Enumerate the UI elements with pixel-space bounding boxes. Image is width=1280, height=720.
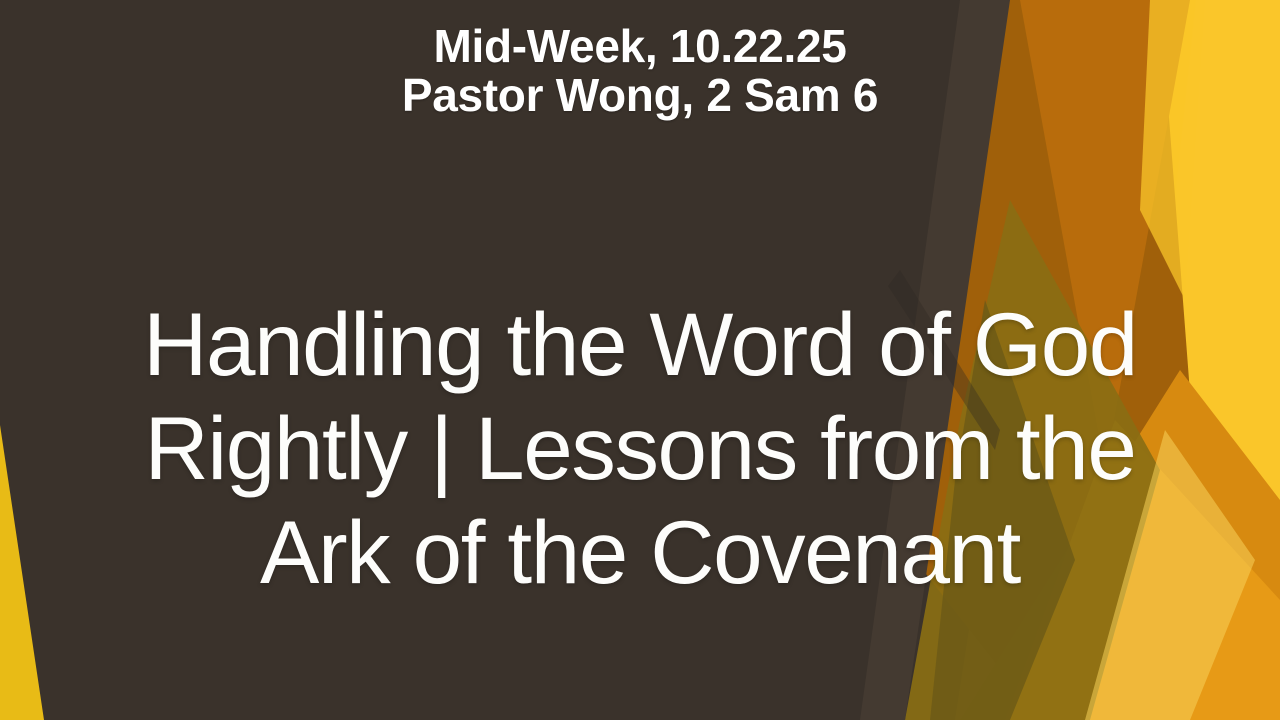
subtitle-block: Mid-Week, 10.22.25 Pastor Wong, 2 Sam 6 xyxy=(402,22,878,120)
slide-content: Mid-Week, 10.22.25 Pastor Wong, 2 Sam 6 … xyxy=(0,0,1280,720)
subtitle-line-speaker-passage: Pastor Wong, 2 Sam 6 xyxy=(402,71,878,120)
title-line-2: Rightly | Lessons from the xyxy=(34,396,1246,500)
sermon-title: Handling the Word of God Rightly | Lesso… xyxy=(0,292,1280,604)
subtitle-line-date: Mid-Week, 10.22.25 xyxy=(402,22,878,71)
title-line-1: Handling the Word of God xyxy=(34,292,1246,396)
sermon-title-slide: Mid-Week, 10.22.25 Pastor Wong, 2 Sam 6 … xyxy=(0,0,1280,720)
title-line-3: Ark of the Covenant xyxy=(34,500,1246,604)
